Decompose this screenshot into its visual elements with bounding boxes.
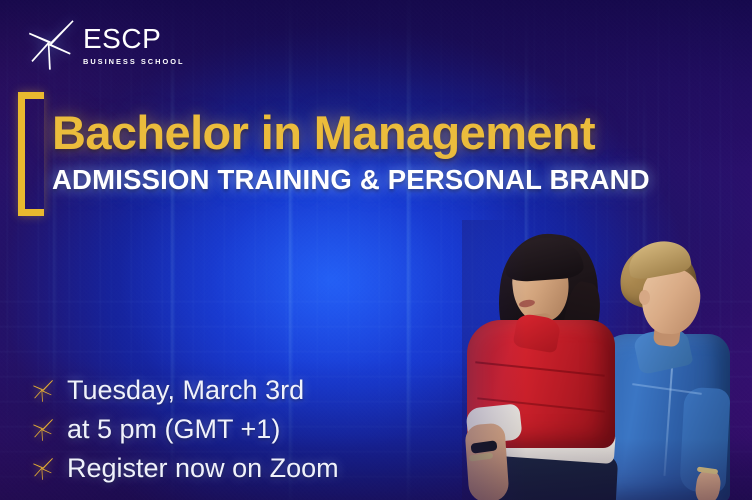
event-details-list: Tuesday, March 3rd at 5 pm (GMT +1) [32,377,339,482]
promo-poster: ESCP BUSINESS SCHOOL Bachelor in Managem… [0,0,752,500]
escp-logo: ESCP BUSINESS SCHOOL [26,18,184,70]
star-bullet-icon [32,457,53,480]
ear [639,290,650,305]
escp-star-icon [26,18,74,70]
student-in-red-jacket [462,228,632,500]
students-photo [462,220,752,500]
page-subtitle: ADMISSION TRAINING & PERSONAL BRAND [52,166,650,195]
list-item: Register now on Zoom [32,455,339,482]
headline-block: Bachelor in Management ADMISSION TRAININ… [18,92,650,216]
escp-wordmark: ESCP BUSINESS SCHOOL [83,23,184,65]
brand-name: ESCP [83,25,184,53]
list-item: Tuesday, March 3rd [32,377,339,404]
page-title: Bachelor in Management [52,109,650,157]
event-time: at 5 pm (GMT +1) [67,416,280,443]
registration-call-to-action: Register now on Zoom [67,455,339,482]
headline-text-group: Bachelor in Management ADMISSION TRAININ… [52,92,650,216]
brand-tagline: BUSINESS SCHOOL [83,58,184,65]
gold-bracket-decoration [18,92,44,216]
event-date: Tuesday, March 3rd [67,377,304,404]
star-bullet-icon [32,379,53,402]
list-item: at 5 pm (GMT +1) [32,416,339,443]
star-bullet-icon [32,418,53,441]
